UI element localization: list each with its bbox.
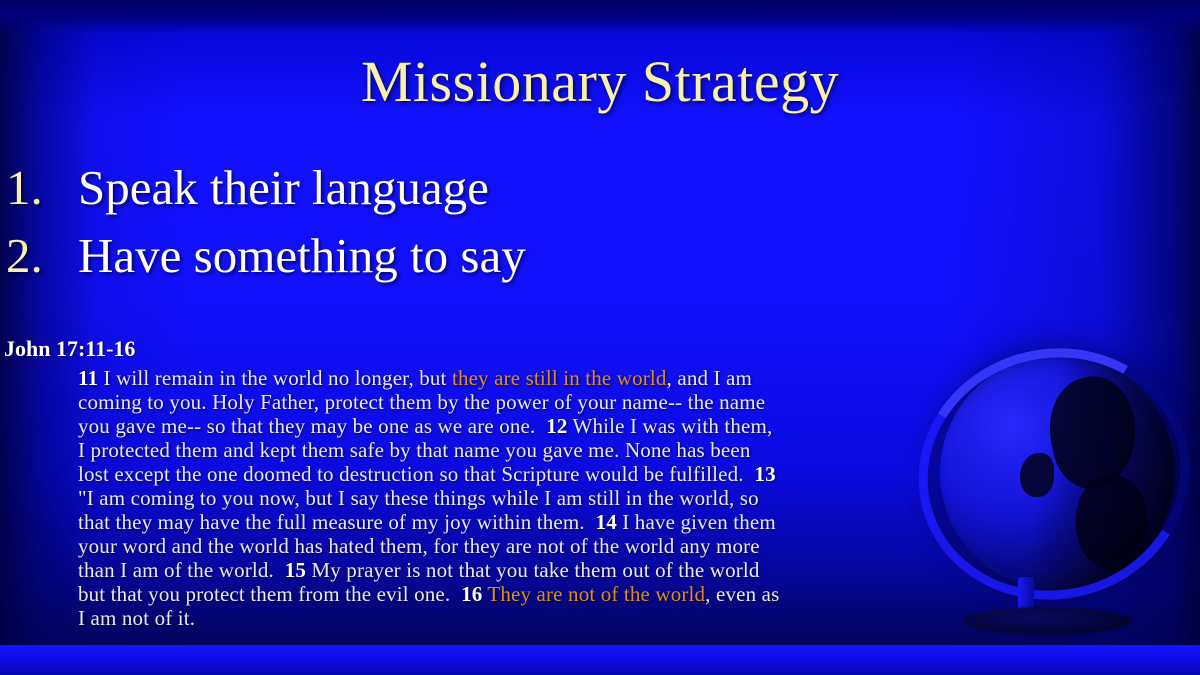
verse-number: 11 [78, 366, 98, 390]
scripture-line: you gave me-- so that they may be one as… [78, 414, 1183, 438]
list-item-number: 2. [6, 226, 78, 286]
scripture-body-text: 11 I will remain in the world no longer,… [78, 366, 1183, 630]
scripture-line: that they may have the full measure of m… [78, 510, 1183, 534]
scripture-run: I have given them [617, 510, 776, 534]
list-item-label: Have something to say [78, 226, 526, 286]
scripture-run: your word and the world has hated them, … [78, 534, 760, 558]
scripture-run: but that you protect them from the evil … [78, 582, 461, 606]
strategy-point-list: 1. Speak their language 2. Have somethin… [6, 158, 906, 294]
verse-number: 13 [754, 462, 775, 486]
scripture-line: I protected them and kept them safe by t… [78, 438, 1183, 462]
page-title: Missionary Strategy [0, 50, 1200, 114]
scripture-reference: John 17:11-16 [4, 336, 135, 362]
scripture-run: lost except the one doomed to destructio… [78, 462, 754, 486]
presentation-slide: Missionary Strategy 1. Speak their langu… [0, 0, 1200, 675]
scripture-run: you gave me-- so that they may be one as… [78, 414, 546, 438]
scripture-run: I protected them and kept them safe by t… [78, 438, 751, 462]
scripture-run: , even as [705, 582, 779, 606]
scripture-run: My prayer is not that you take them out … [306, 558, 760, 582]
list-item: 1. Speak their language [6, 158, 906, 226]
scripture-line: than I am of the world. 15 My prayer is … [78, 558, 1183, 582]
scripture-run: I will remain in the world no longer, bu… [98, 366, 452, 390]
scripture-run: that they may have the full measure of m… [78, 510, 596, 534]
verse-number: 12 [546, 414, 567, 438]
scripture-run: "I am coming to you now, but I say these… [78, 486, 759, 510]
scripture-line: your word and the world has hated them, … [78, 534, 1183, 558]
highlighted-phrase: they are still in the world [452, 366, 667, 390]
verse-number: 15 [285, 558, 306, 582]
list-item-label: Speak their language [78, 158, 489, 218]
list-item: 2. Have something to say [6, 226, 906, 294]
scripture-line: "I am coming to you now, but I say these… [78, 486, 1183, 510]
slide-content: Missionary Strategy 1. Speak their langu… [0, 0, 1200, 675]
scripture-line: lost except the one doomed to destructio… [78, 462, 1183, 486]
bottom-accent-band [0, 645, 1200, 675]
scripture-line: coming to you. Holy Father, protect them… [78, 390, 1183, 414]
verse-number: 16 [461, 582, 482, 606]
scripture-line: but that you protect them from the evil … [78, 582, 1183, 606]
scripture-run: I am not of it. [78, 606, 195, 630]
scripture-run: coming to you. Holy Father, protect them… [78, 390, 765, 414]
scripture-run: , and I am [667, 366, 752, 390]
scripture-run: than I am of the world. [78, 558, 285, 582]
scripture-line: I am not of it. [78, 606, 1183, 630]
scripture-line: 11 I will remain in the world no longer,… [78, 366, 1183, 390]
verse-number: 14 [596, 510, 617, 534]
list-item-number: 1. [6, 158, 78, 218]
scripture-run: While I was with them, [568, 414, 773, 438]
highlighted-phrase: They are not of the world [487, 582, 705, 606]
